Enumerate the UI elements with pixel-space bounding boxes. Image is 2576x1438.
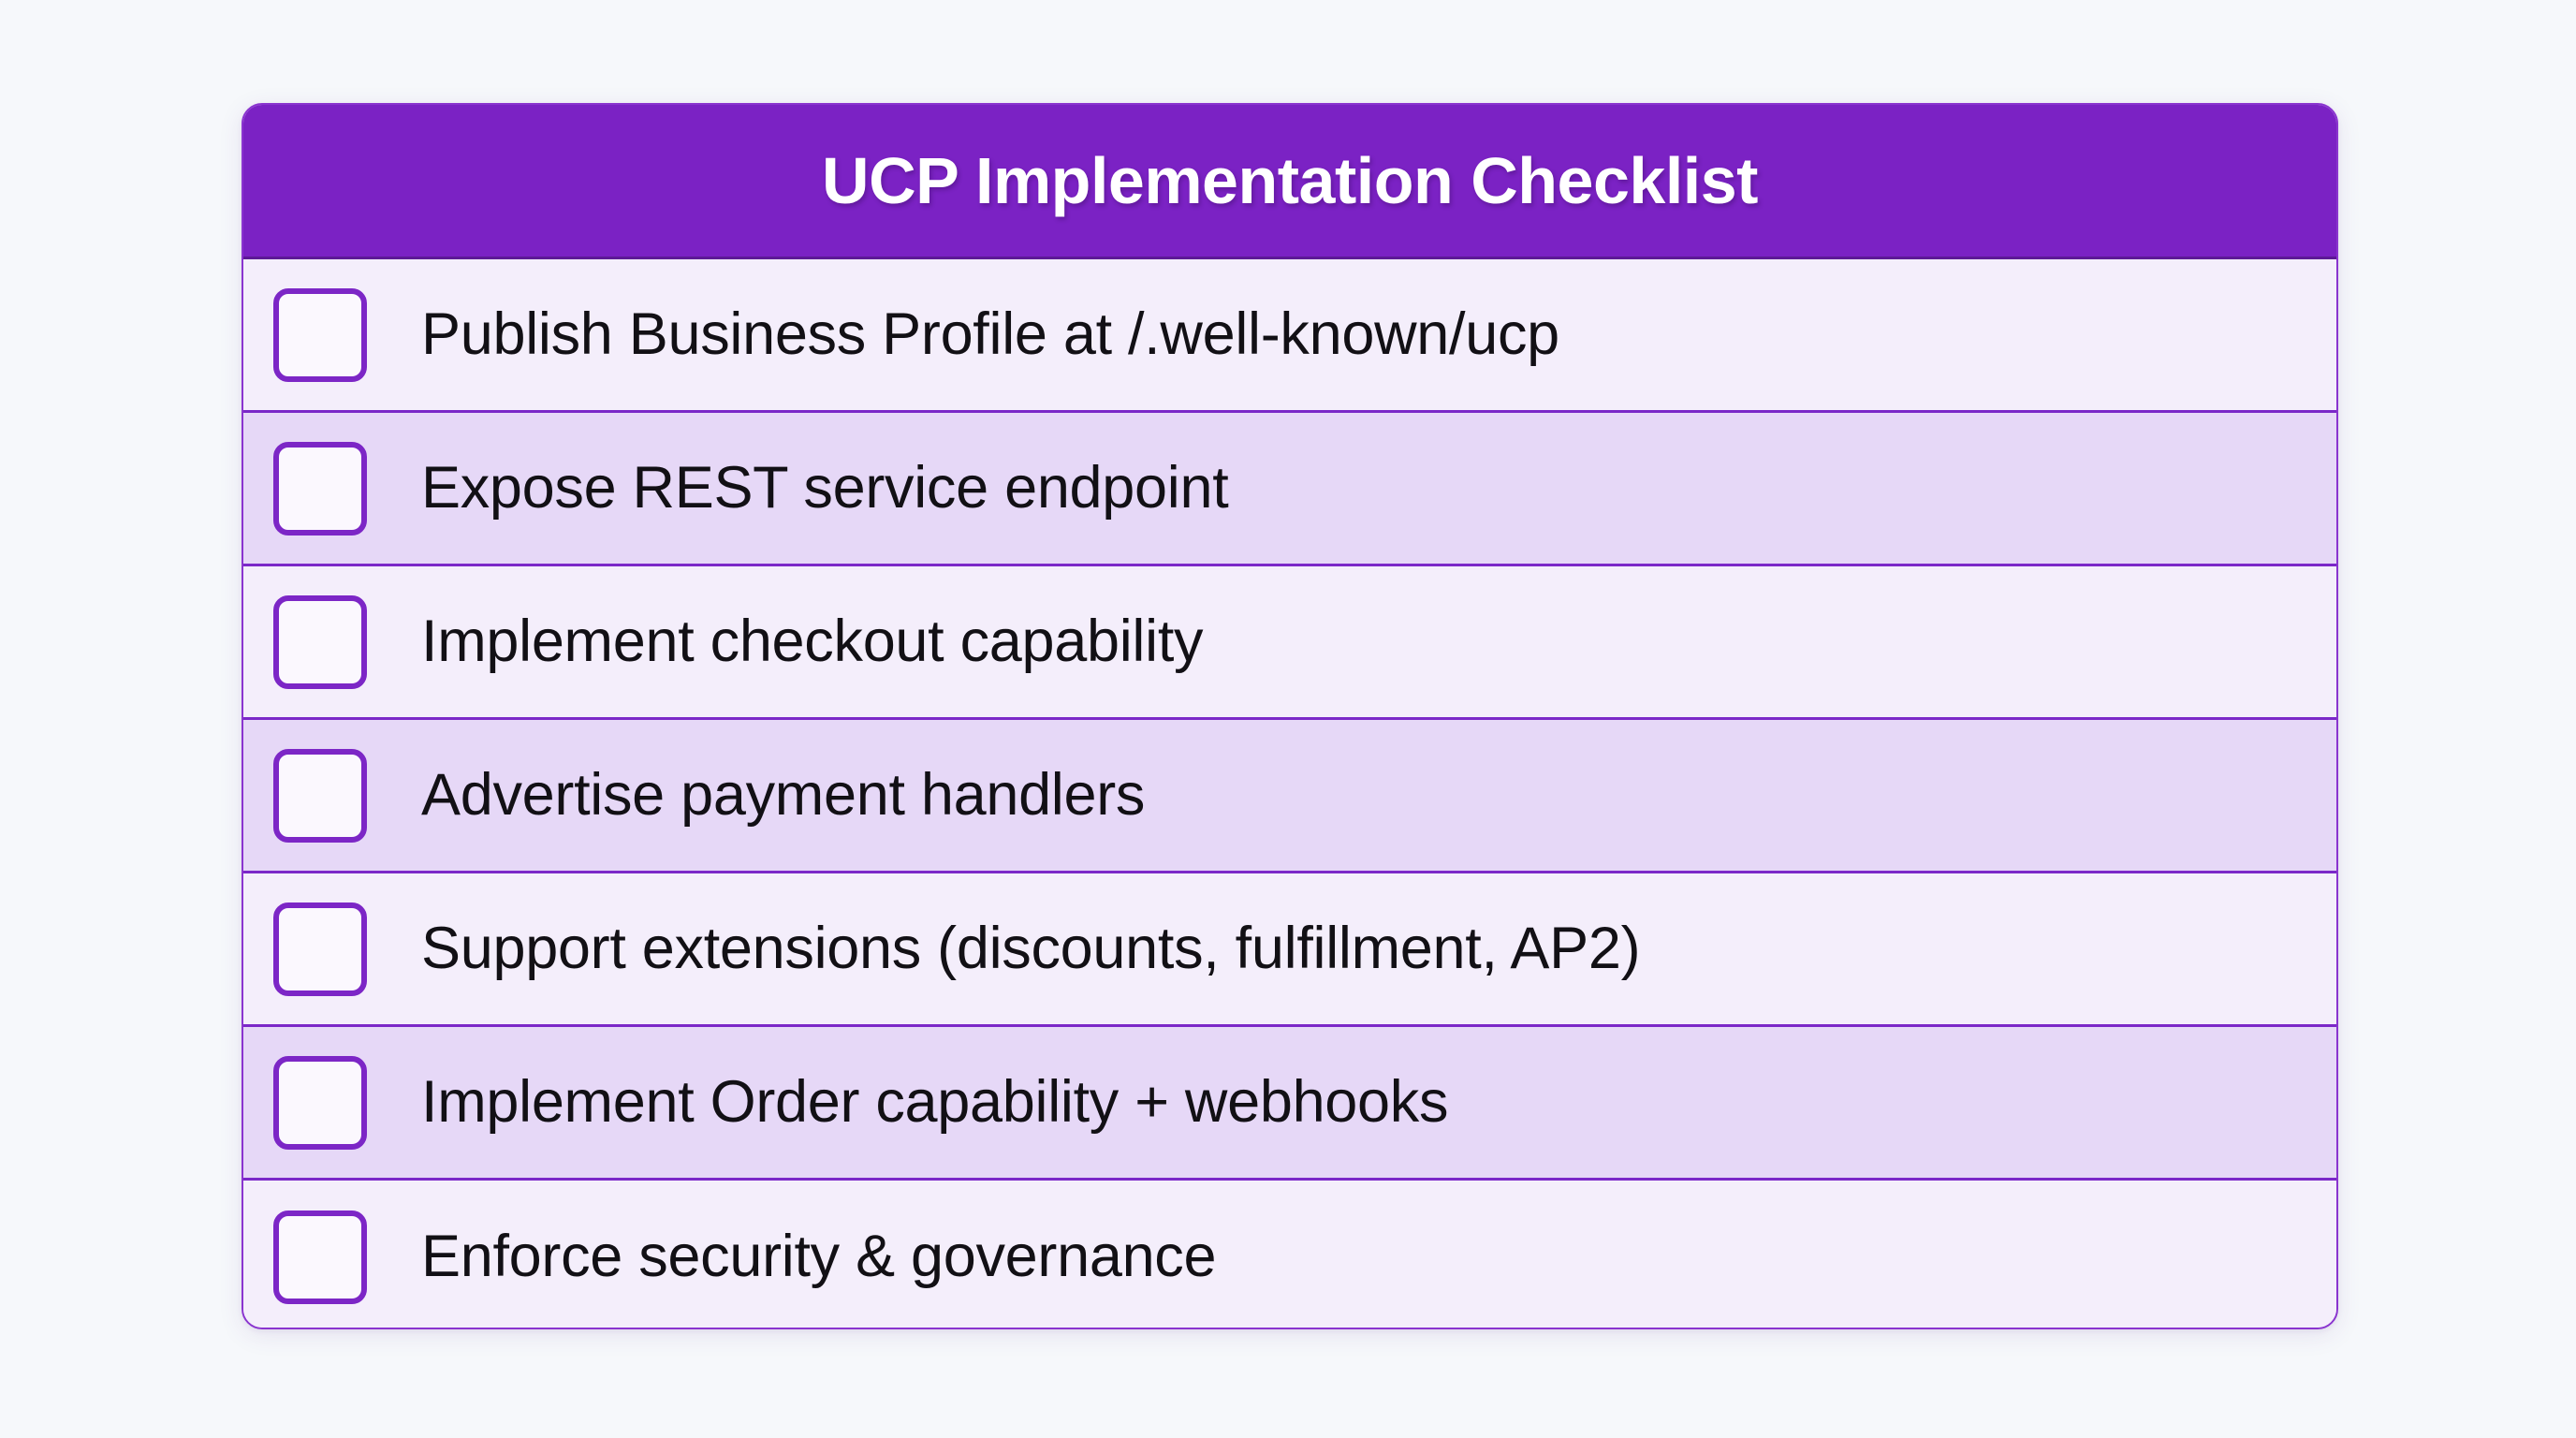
checklist-item[interactable]: Advertise payment handlers xyxy=(243,720,2336,873)
checklist-item[interactable]: Expose REST service endpoint xyxy=(243,413,2336,566)
page-title: UCP Implementation Checklist xyxy=(822,148,1758,213)
checkbox-icon[interactable] xyxy=(273,902,367,996)
checklist-item-label: Advertise payment handlers xyxy=(421,763,1145,828)
checklist-header: UCP Implementation Checklist xyxy=(243,105,2336,259)
checklist-card: UCP Implementation Checklist Publish Bus… xyxy=(241,103,2338,1329)
checkbox-icon[interactable] xyxy=(273,595,367,689)
checklist-item[interactable]: Implement Order capability + webhooks xyxy=(243,1027,2336,1181)
checkbox-icon[interactable] xyxy=(273,442,367,536)
checklist-items: Publish Business Profile at /.well-known… xyxy=(243,259,2336,1329)
checklist-item-label: Publish Business Profile at /.well-known… xyxy=(421,302,1559,367)
checklist-item-label: Implement Order capability + webhooks xyxy=(421,1070,1448,1135)
checklist-item[interactable]: Publish Business Profile at /.well-known… xyxy=(243,259,2336,413)
checklist-item-label: Support extensions (discounts, fulfillme… xyxy=(421,917,1640,981)
checklist-item-label: Implement checkout capability xyxy=(421,609,1203,674)
checklist-item-label: Expose REST service endpoint xyxy=(421,456,1228,521)
checklist-item[interactable]: Support extensions (discounts, fulfillme… xyxy=(243,873,2336,1027)
checkbox-icon[interactable] xyxy=(273,1056,367,1150)
checkbox-icon[interactable] xyxy=(273,288,367,382)
checklist-item[interactable]: Implement checkout capability xyxy=(243,566,2336,720)
checkbox-icon[interactable] xyxy=(273,1211,367,1304)
checklist-item[interactable]: Enforce security & governance xyxy=(243,1181,2336,1329)
checklist-item-label: Enforce security & governance xyxy=(421,1225,1216,1289)
checkbox-icon[interactable] xyxy=(273,749,367,843)
